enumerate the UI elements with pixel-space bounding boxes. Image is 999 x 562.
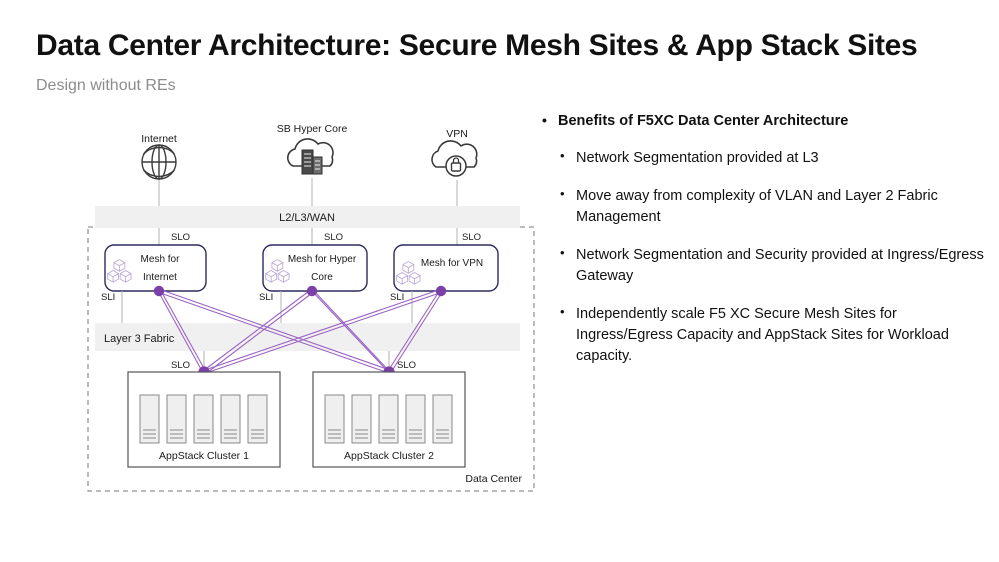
appstack-2-label: AppStack Cluster 2: [344, 450, 434, 462]
mesh-2-sli-label: SLI: [259, 292, 273, 303]
server-icon: [248, 395, 267, 443]
external-node-1-label: Internet: [141, 133, 177, 145]
benefit-item-3: Network Segmentation and Security provid…: [540, 245, 990, 287]
benefit-item-2: Move away from complexity of VLAN and La…: [540, 186, 990, 228]
benefits-heading: Benefits of F5XC Data Center Architectur…: [540, 112, 990, 132]
mesh-site-vpn[interactable]: Mesh for VPN: [394, 245, 498, 291]
appstack-cluster-2[interactable]: AppStack Cluster 2: [313, 372, 465, 467]
mesh-2-title-line1: Mesh for Hyper: [288, 254, 357, 265]
mesh-3-sli-label: SLI: [390, 292, 404, 303]
architecture-diagram: L2/L3/WAN SLO SLO SLO Mesh fo: [0, 110, 545, 510]
mesh-1-title-line2: Internet: [143, 272, 177, 283]
appstack-2-slo-label: SLO: [397, 360, 416, 371]
server-icons: [140, 395, 267, 443]
mesh-3-slo-node[interactable]: [436, 286, 446, 296]
server-icon: [221, 395, 240, 443]
server-icon: [379, 395, 398, 443]
mesh-2-slo-node[interactable]: [307, 286, 317, 296]
server-icon: [194, 395, 213, 443]
appstack-1-slo-label: SLO: [171, 360, 190, 371]
appstack-1-label: AppStack Cluster 1: [159, 450, 249, 462]
globe-icon: [142, 145, 176, 179]
server-icon: [406, 395, 425, 443]
mesh-site-internet[interactable]: Mesh for Internet: [105, 245, 206, 291]
mesh-1-sli-label: SLI: [101, 292, 115, 303]
mesh-1-title-line1: Mesh for: [141, 254, 181, 265]
wan-bar-label: L2/L3/WAN: [279, 212, 335, 224]
mesh-1-slo-label: SLO: [171, 232, 190, 243]
server-icon: [167, 395, 186, 443]
mesh-2-slo-label: SLO: [324, 232, 343, 243]
benefit-item-1: Network Segmentation provided at L3: [540, 148, 990, 169]
fabric-bar-label: Layer 3 Fabric: [104, 333, 175, 345]
cloud-datacenter-icon: [288, 139, 333, 174]
mesh-3-slo-label: SLO: [462, 232, 481, 243]
page-title: Data Center Architecture: Secure Mesh Si…: [36, 29, 917, 63]
benefit-item-4: Independently scale F5 XC Secure Mesh Si…: [540, 304, 990, 367]
benefits-list: Benefits of F5XC Data Center Architectur…: [540, 112, 990, 384]
page-subtitle: Design without REs: [36, 77, 176, 95]
data-center-boundary-label: Data Center: [465, 473, 522, 485]
slide-root: Data Center Architecture: Secure Mesh Si…: [0, 0, 999, 562]
server-icons: [325, 395, 452, 443]
mesh-1-slo-node[interactable]: [154, 286, 164, 296]
external-node-2-label: SB Hyper Core: [277, 123, 348, 135]
mesh-3-title-line1: Mesh for VPN: [421, 258, 483, 269]
mesh-2-title-line2: Core: [311, 272, 333, 283]
server-icon: [433, 395, 452, 443]
server-icon: [140, 395, 159, 443]
appstack-cluster-1[interactable]: AppStack Cluster 1: [128, 372, 280, 467]
server-icon: [352, 395, 371, 443]
cloud-lock-icon: [432, 141, 477, 176]
mesh-site-hyper-core[interactable]: Mesh for Hyper Core: [263, 245, 367, 291]
external-node-3-label: VPN: [446, 128, 468, 140]
server-icon: [325, 395, 344, 443]
